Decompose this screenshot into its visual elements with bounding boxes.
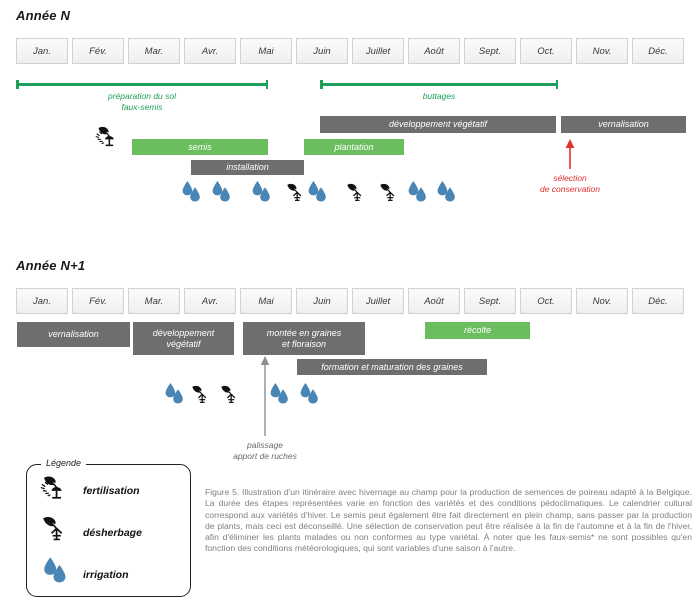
month-cell-annee-n1[interactable]: Déc. (632, 288, 684, 314)
month-cell-annee-n1[interactable]: Jan. (16, 288, 68, 314)
selection-conservation-arrow-icon (563, 138, 577, 170)
bracket-line (320, 83, 558, 86)
month-cell-annee-n[interactable]: Jan. (16, 38, 68, 64)
month-cell-annee-n[interactable]: Août (408, 38, 460, 64)
legend-label-desherbage: désherbage (83, 527, 142, 539)
legend-title: Légende (41, 458, 86, 468)
irrigation-icon (210, 180, 236, 204)
fertilisation-icon (95, 123, 121, 149)
figure-caption: Figure 5. Illustration d'un itinéraire a… (205, 487, 692, 555)
month-cell-annee-n[interactable]: Déc. (632, 38, 684, 64)
month-cell-annee-n[interactable]: Nov. (576, 38, 628, 64)
month-cell-annee-n1[interactable]: Mai (240, 288, 292, 314)
month-cell-annee-n[interactable]: Fév. (72, 38, 124, 64)
desherbage-icon (285, 180, 307, 204)
irrigation-icon (41, 556, 71, 589)
bar-developpement-vegetatif-n1: développement végétatif (133, 322, 234, 355)
bracket-cap-left (16, 80, 19, 89)
fertilisation-icon (39, 472, 71, 507)
irrigation-icon (306, 180, 332, 204)
irrigation-icon (298, 382, 324, 406)
irrigation-icon (180, 180, 206, 204)
figure-root: Année N Jan.Fév.Mar.Avr.MaiJuinJuilletAo… (0, 0, 700, 608)
month-cell-annee-n[interactable]: Mar. (128, 38, 180, 64)
desherbage-icon (345, 180, 367, 204)
bracket-cap-right (266, 80, 269, 89)
legend-label-fertilisation: fertilisation (83, 485, 140, 497)
irrigation-icon (250, 180, 276, 204)
bar-developpement-vegetatif-n: développement végétatif (320, 116, 556, 133)
bracket-preparation-du-sol (16, 80, 268, 89)
legend-item-desherbage: désherbage (39, 527, 142, 539)
desherbage-icon (190, 382, 212, 406)
bar-vernalisation-n1: vernalisation (17, 322, 130, 347)
month-cell-annee-n1[interactable]: Juin (296, 288, 348, 314)
irrigation-icon (406, 180, 432, 204)
legend-item-fertilisation: fertilisation (39, 485, 140, 497)
palissage-note: palissage apport de ruches (205, 440, 325, 462)
palissage-arrow-icon (258, 355, 272, 437)
desherbage-icon (219, 382, 241, 406)
desherbage-icon (378, 180, 400, 204)
legend-label-irrigation: irrigation (83, 569, 129, 581)
month-cell-annee-n1[interactable]: Juillet (352, 288, 404, 314)
month-cell-annee-n[interactable]: Avr. (184, 38, 236, 64)
bracket-label-preparation-du-sol: préparation du sol faux-semis (16, 91, 268, 112)
bar-montee-en-graines: montée en graines et floraison (243, 322, 365, 355)
month-cell-annee-n1[interactable]: Fév. (72, 288, 124, 314)
month-cell-annee-n[interactable]: Mai (240, 38, 292, 64)
legend-box: Légende fertilisation (26, 464, 191, 597)
month-cell-annee-n1[interactable]: Août (408, 288, 460, 314)
month-cell-annee-n[interactable]: Sept. (464, 38, 516, 64)
bracket-cap-right (556, 80, 559, 89)
bar-vernalisation-n: vernalisation (561, 116, 686, 133)
irrigation-icon (435, 180, 461, 204)
section-title-annee-n: Année N (16, 8, 70, 23)
bracket-cap-left (320, 80, 323, 89)
bar-recolte: récolte (425, 322, 530, 339)
bracket-buttages (320, 80, 558, 89)
legend-item-irrigation: irrigation (39, 569, 129, 581)
month-cell-annee-n1[interactable]: Avr. (184, 288, 236, 314)
bar-semis: semis (132, 139, 268, 155)
section-title-annee-n1: Année N+1 (16, 258, 85, 273)
month-cell-annee-n[interactable]: Juillet (352, 38, 404, 64)
bar-installation: installation (191, 160, 304, 175)
bracket-line (16, 83, 268, 86)
month-cell-annee-n1[interactable]: Mar. (128, 288, 180, 314)
irrigation-icon (163, 382, 189, 406)
month-cell-annee-n1[interactable]: Sept. (464, 288, 516, 314)
month-cell-annee-n1[interactable]: Oct. (520, 288, 572, 314)
desherbage-icon (39, 513, 71, 548)
bar-formation-maturation: formation et maturation des graines (297, 359, 487, 375)
bar-plantation: plantation (304, 139, 404, 155)
month-cell-annee-n[interactable]: Juin (296, 38, 348, 64)
selection-conservation-note: sélection de conservation (512, 173, 628, 195)
month-cell-annee-n[interactable]: Oct. (520, 38, 572, 64)
month-cell-annee-n1[interactable]: Nov. (576, 288, 628, 314)
bracket-label-buttages: buttages (320, 91, 558, 102)
